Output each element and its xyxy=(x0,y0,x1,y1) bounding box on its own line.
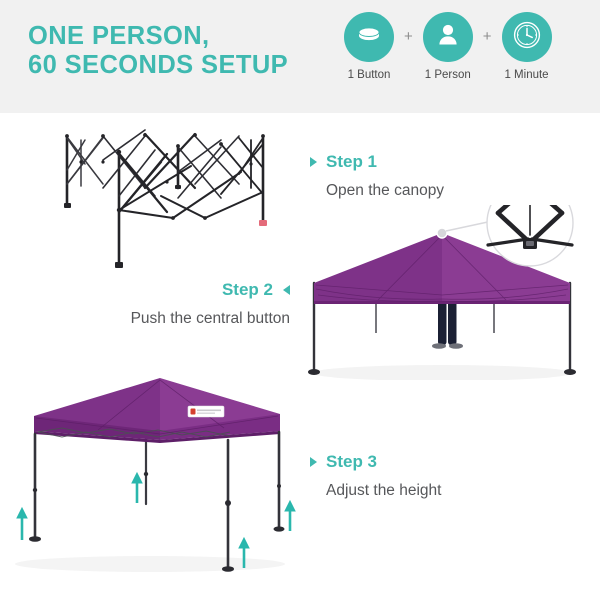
badge-label: 1 Person xyxy=(425,69,471,81)
canopy-mid-svg xyxy=(292,205,592,380)
step-1-title: Step 1 xyxy=(326,152,377,172)
button-disc-icon xyxy=(354,20,384,55)
triangle-left-icon xyxy=(283,285,290,295)
step-1-description: Open the canopy xyxy=(310,181,444,200)
step-3-title: Step 3 xyxy=(326,452,377,472)
badge-1-button: 1 Button xyxy=(340,12,398,81)
person-icon xyxy=(433,20,463,55)
triangle-right-icon xyxy=(310,457,317,467)
clock-icon xyxy=(511,19,543,56)
badge-circle xyxy=(502,12,552,62)
step-2-description: Push the central button xyxy=(20,309,290,328)
triangle-right-icon xyxy=(310,157,317,167)
badge-circle xyxy=(423,12,473,62)
arrow-up-2 xyxy=(132,473,142,503)
badge-2-person: 1 Person xyxy=(419,12,477,81)
step-3-description: Adjust the height xyxy=(310,481,441,500)
step-1-block: Step 1 Open the canopy xyxy=(310,152,444,200)
frame-svg xyxy=(45,126,295,276)
infographic-canvas: ONE PERSON, 60 SECONDS SETUP 1 Button + xyxy=(0,0,600,600)
arrow-up-1 xyxy=(17,508,27,540)
canopy-inner-legs xyxy=(376,300,494,333)
canopy-roof xyxy=(34,378,280,443)
collapsed-scissor-frame-illustration xyxy=(45,126,295,276)
arrow-up-4 xyxy=(285,501,295,531)
header-band: ONE PERSON, 60 SECONDS SETUP 1 Button + xyxy=(0,0,600,113)
page-title: ONE PERSON, 60 SECONDS SETUP xyxy=(28,22,288,80)
badge-circle xyxy=(344,12,394,62)
badge-3-minute: 1 Minute xyxy=(498,12,556,81)
brand-logo-tag xyxy=(188,406,224,417)
step-2-block: Step 2 Push the central button xyxy=(20,280,290,328)
canopy-height-illustration xyxy=(0,368,300,573)
leg-joint-nodes xyxy=(33,472,281,506)
step-3-block: Step 3 Adjust the height xyxy=(310,452,441,500)
badge-label: 1 Button xyxy=(348,69,391,81)
plus-separator-1: + xyxy=(404,12,413,62)
height-adjust-arrows xyxy=(17,473,295,568)
step-2-title: Step 2 xyxy=(222,280,273,300)
canopy-open-illustration xyxy=(292,205,592,380)
ground-shadow xyxy=(312,365,572,380)
step-2-heading: Step 2 xyxy=(20,280,290,300)
feature-badges: 1 Button + 1 Person + xyxy=(340,12,556,81)
step-1-heading: Step 1 xyxy=(310,152,444,172)
canopy-bottom-svg xyxy=(0,368,300,573)
plus-separator-2: + xyxy=(483,12,492,62)
step-3-heading: Step 3 xyxy=(310,452,441,472)
badge-label: 1 Minute xyxy=(504,69,548,81)
